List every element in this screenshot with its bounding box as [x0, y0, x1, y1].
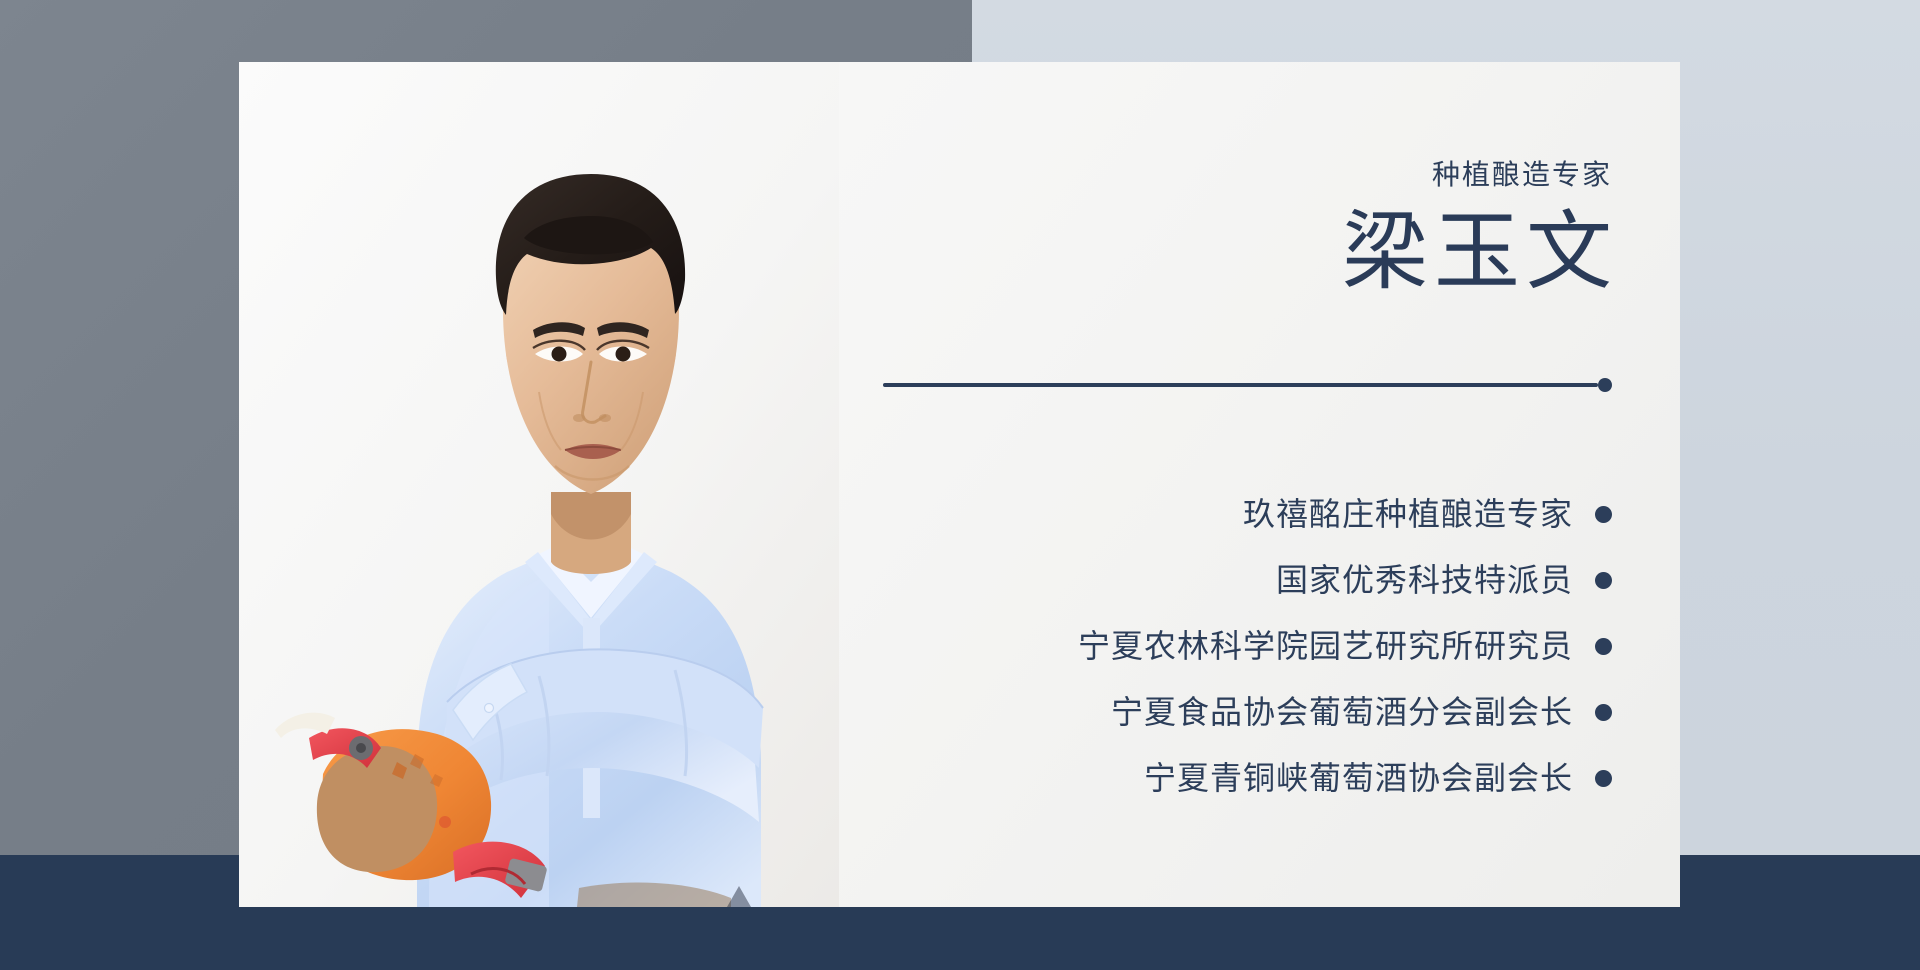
bullet-dot-icon: [1595, 506, 1612, 523]
bullet-dot-icon: [1595, 572, 1612, 589]
list-item: 国家优秀科技特派员: [1276, 553, 1612, 607]
list-item: 宁夏食品协会葡萄酒分会副会长: [1111, 685, 1612, 739]
credential-label: 宁夏食品协会葡萄酒分会副会长: [1111, 692, 1573, 732]
bullet-dot-icon: [1595, 704, 1612, 721]
profile-subtitle: 种植酿造专家: [1432, 158, 1612, 192]
profile-card: 种植酿造专家 梁玉文 玖禧酩庄种植酿造专家 国家优秀科技特派员 宁夏农林科学院园…: [239, 62, 1680, 907]
profile-name: 梁玉文: [1342, 202, 1618, 302]
profile-banner: 种植酿造专家 梁玉文 玖禧酩庄种植酿造专家 国家优秀科技特派员 宁夏农林科学院园…: [0, 0, 1920, 970]
portrait-photo: [239, 62, 839, 907]
list-item: 玖禧酩庄种植酿造专家: [1243, 487, 1612, 541]
divider-end-dot-icon: [1598, 378, 1612, 392]
credential-label: 国家优秀科技特派员: [1276, 560, 1573, 600]
profile-info: 种植酿造专家 梁玉文 玖禧酩庄种植酿造专家 国家优秀科技特派员 宁夏农林科学院园…: [839, 62, 1680, 907]
credential-label: 宁夏农林科学院园艺研究所研究员: [1078, 626, 1573, 666]
credentials-list: 玖禧酩庄种植酿造专家 国家优秀科技特派员 宁夏农林科学院园艺研究所研究员 宁夏食…: [1078, 487, 1612, 805]
list-item: 宁夏农林科学院园艺研究所研究员: [1078, 619, 1612, 673]
bullet-dot-icon: [1595, 638, 1612, 655]
credential-label: 宁夏青铜峡葡萄酒协会副会长: [1144, 758, 1573, 798]
divider-line: [883, 383, 1598, 387]
credential-label: 玖禧酩庄种植酿造专家: [1243, 494, 1573, 534]
list-item: 宁夏青铜峡葡萄酒协会副会长: [1144, 751, 1612, 805]
bullet-dot-icon: [1595, 770, 1612, 787]
